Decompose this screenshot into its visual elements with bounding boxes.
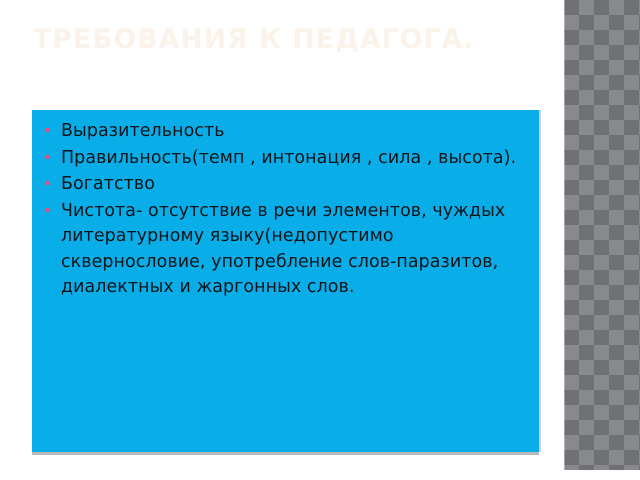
slide-canvas: Требования к педагога. Выразительность П… — [0, 0, 640, 480]
list-item-label: Выразительность — [61, 119, 531, 145]
list-item-label: Правильность(темп , интонация , сила , в… — [61, 146, 531, 172]
list-item: Выразительность — [40, 119, 531, 145]
list-item: Богатство — [40, 172, 531, 198]
decor-edge-highlight — [564, 0, 565, 470]
list-item-label: Чистота- отсутствие в речи элементов, чу… — [61, 199, 531, 301]
bullet-square-icon — [46, 155, 50, 159]
bullet-list: Выразительность Правильность(темп , инто… — [40, 119, 531, 301]
list-item: Чистота- отсутствие в речи элементов, чу… — [40, 199, 531, 301]
bullet-square-icon — [46, 181, 50, 185]
page-title: Требования к педагога. — [33, 24, 533, 55]
list-item-label: Богатство — [61, 172, 531, 198]
content-panel: Выразительность Правильность(темп , инто… — [32, 110, 539, 452]
list-item: Правильность(темп , интонация , сила , в… — [40, 146, 531, 172]
bullet-square-icon — [46, 208, 50, 212]
bullet-square-icon — [46, 128, 50, 132]
diamond-checker-pattern-icon — [564, 0, 640, 470]
